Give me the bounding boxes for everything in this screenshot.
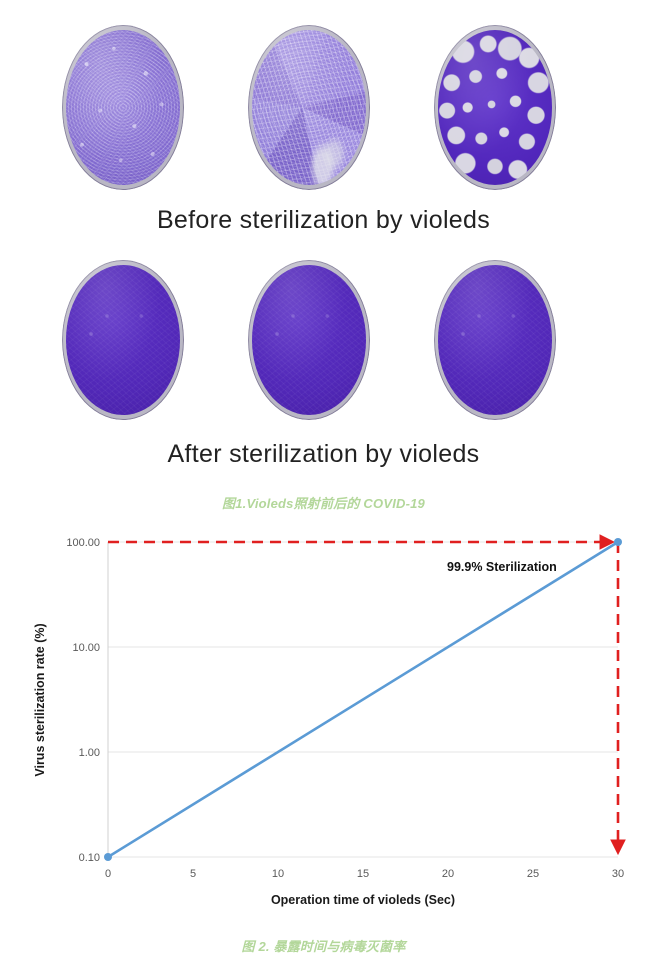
petri-dish-before-3 [434,25,556,190]
dish-row-after [0,250,647,440]
sterilization-callout-label: 99.9% Sterilization [447,560,557,574]
petri-dish-before-1 [62,25,184,190]
data-point-marker-start [104,853,112,861]
x-tick-label: 20 [442,868,454,880]
y-tick-label: 100.00 [66,537,100,549]
y-axis-title: Virus sterilization rate (%) [33,623,47,776]
x-axis-title: Operation time of violeds (Sec) [271,893,455,907]
petri-dish-before-2 [248,25,370,190]
x-tick-labels: 0 5 10 15 20 25 30 [105,868,624,880]
figure1-caption: 图1.Violeds照射前后的 COVID-19 [0,493,647,512]
y-tick-labels: 100.00 10.00 1.00 0.10 [66,537,100,864]
chart-svg: 100.00 10.00 1.00 0.10 0 5 10 15 20 25 3… [0,515,647,925]
figure2-caption: 图 2. 暴露时间与病毒灭菌率 [0,936,647,955]
after-sterilization-panel [0,250,647,440]
y-tick-label: 0.10 [79,852,100,864]
x-tick-label: 15 [357,868,369,880]
dish-agar-plaque-assay [438,30,552,184]
x-tick-label: 25 [527,868,539,880]
petri-dish-after-3 [434,260,556,420]
dish-agar-streaked-monolayer [252,30,366,184]
data-point-marker-end [614,538,622,546]
sterilization-rate-chart: 100.00 10.00 1.00 0.10 0 5 10 15 20 25 3… [0,515,647,925]
before-sterilization-label: Before sterilization by violeds [0,206,647,235]
petri-dish-after-2 [248,260,370,420]
x-tick-label: 5 [190,868,196,880]
x-tick-label: 30 [612,868,624,880]
dish-agar-confluent-monolayer [66,30,180,184]
after-sterilization-label: After sterilization by violeds [0,440,647,469]
x-tick-label: 10 [272,868,284,880]
y-tick-label: 10.00 [72,642,100,654]
dish-agar-clean [252,265,366,415]
dish-agar-clean [438,265,552,415]
petri-dish-after-1 [62,260,184,420]
y-tick-label: 1.00 [79,747,100,759]
x-tick-label: 0 [105,868,111,880]
series-line-virus-sterilization-rate [108,542,618,857]
dish-agar-clean [66,265,180,415]
